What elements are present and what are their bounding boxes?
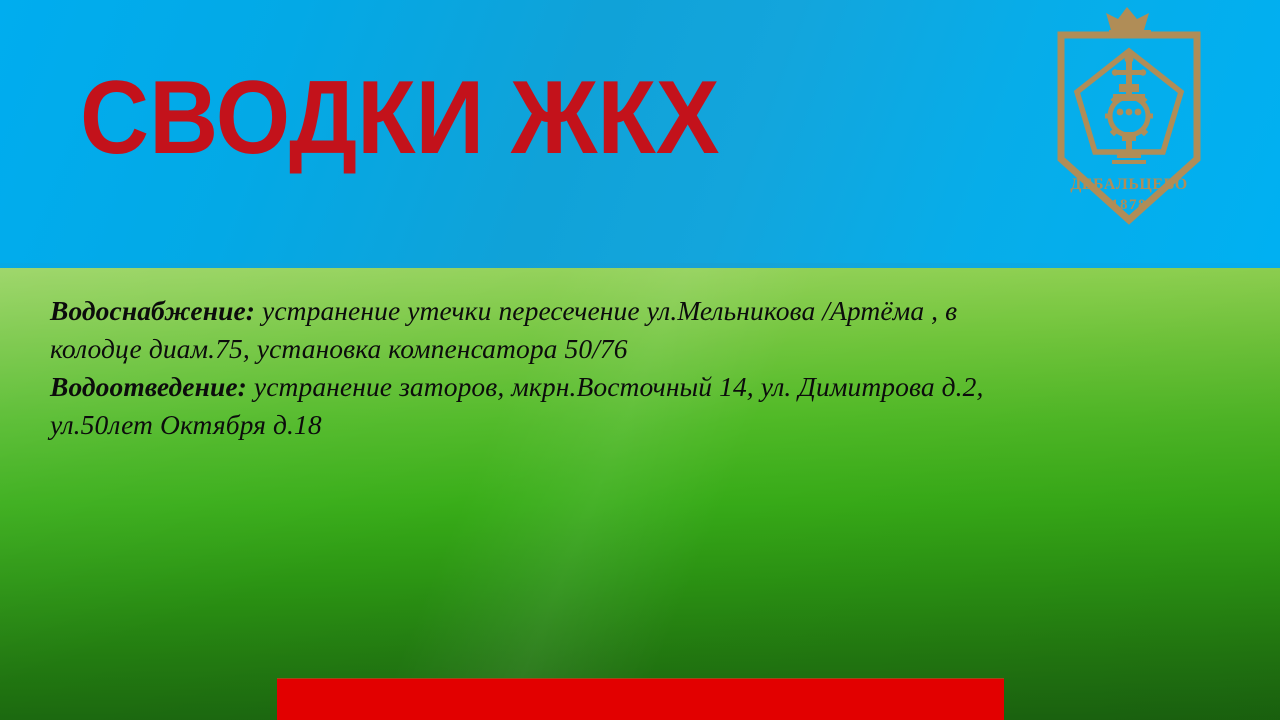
emblem-year-label: 1878 bbox=[1111, 197, 1147, 213]
bottom-accent-bar bbox=[277, 678, 1004, 720]
label-vodootvedenie: Водоотведение: bbox=[50, 371, 247, 402]
slide-body: Водоснабжение: устранение утечки пересеч… bbox=[0, 268, 1280, 720]
crown-shape bbox=[1106, 7, 1151, 34]
label-vodosnabzhenie: Водоснабжение: bbox=[50, 295, 255, 326]
slide-header-banner: СВОДКИ ЖКХ bbox=[0, 0, 1280, 268]
body-paragraph-block: Водоснабжение: устранение утечки пересеч… bbox=[50, 292, 1010, 444]
coat-of-arms-icon: ДЕБАЛЬЦЕВО 1878 bbox=[1053, 4, 1205, 232]
emblem-city-label: ДЕБАЛЬЦЕВО bbox=[1070, 176, 1187, 193]
page-title: СВОДКИ ЖКХ bbox=[80, 66, 720, 170]
presentation-slide: СВОДКИ ЖКХ bbox=[0, 0, 1280, 720]
